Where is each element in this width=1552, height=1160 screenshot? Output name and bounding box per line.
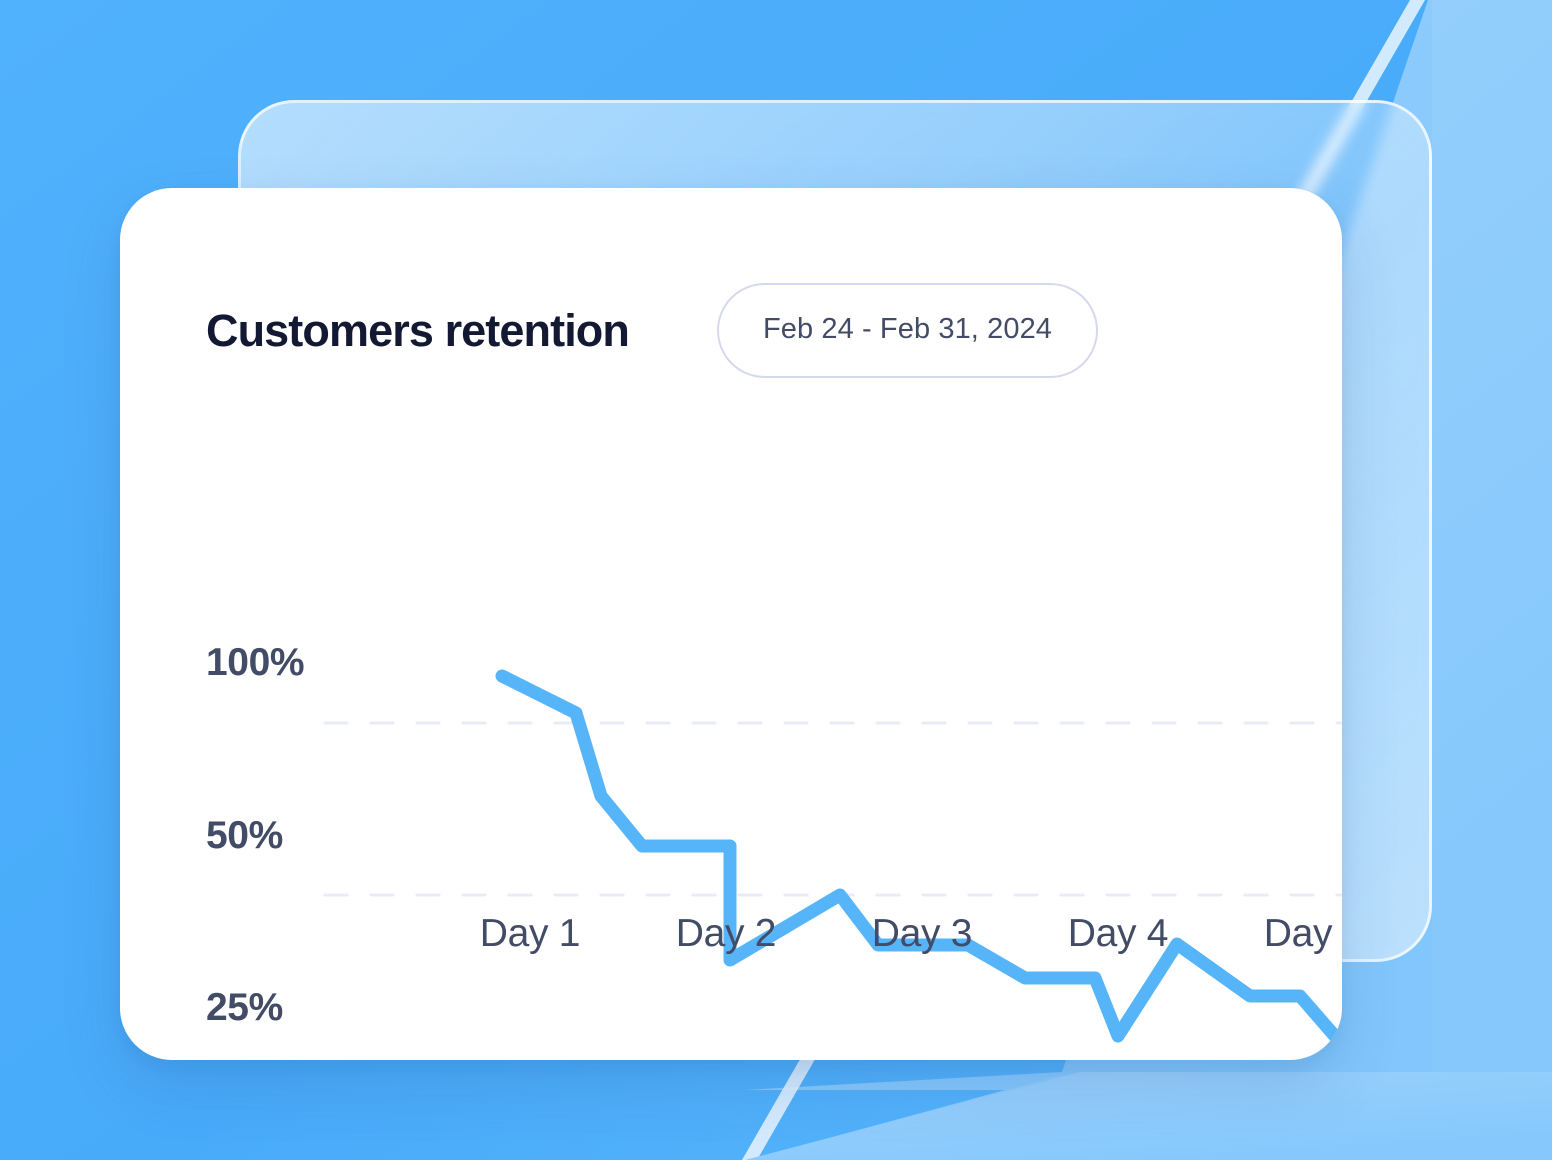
x-axis-tick-day-2: Day 2 — [676, 914, 776, 953]
chart-plot-area: 100% 50% 25% Day 1 Day 2 Day 3 Day 4 Day… — [120, 188, 1342, 1060]
retention-chart-card: Customers retention Feb 24 - Feb 31, 202… — [120, 188, 1342, 1060]
x-axis-tick-day-3: Day 3 — [872, 914, 972, 953]
x-axis-tick-day-5: Day 5 — [1264, 914, 1342, 953]
retention-series-line — [502, 676, 1342, 1060]
page-background: Customers retention Feb 24 - Feb 31, 202… — [0, 0, 1552, 1160]
x-axis-labels: Day 1 Day 2 Day 3 Day 4 Day 5 — [120, 914, 1342, 984]
x-axis-tick-day-4: Day 4 — [1068, 914, 1168, 953]
x-axis-tick-day-1: Day 1 — [480, 914, 580, 953]
